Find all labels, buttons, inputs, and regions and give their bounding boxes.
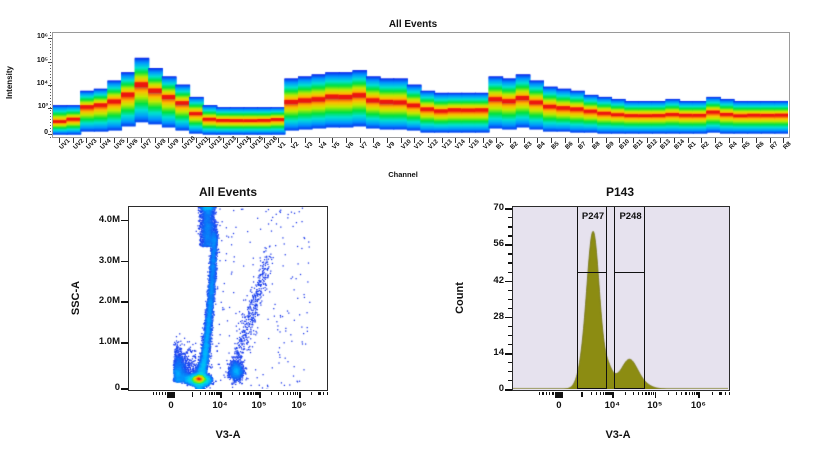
histogram-y-tick-label: 56 (476, 238, 504, 249)
histogram-x-tick-label: 0 (539, 400, 579, 411)
histogram-x-minor-tick (549, 392, 550, 395)
channel-tick-mark (715, 138, 716, 143)
scatter-x-minor-tick (293, 392, 294, 395)
channel-tick-mark (524, 138, 525, 143)
scatter-y-tick-mark (121, 342, 128, 344)
channel-tick-mark (483, 138, 484, 143)
scatter-x-minor-tick (162, 392, 163, 395)
channel-tick-mark (73, 138, 74, 143)
scatter-x-minor-tick (192, 392, 193, 397)
channel-tick-mark (469, 138, 470, 143)
histogram-x-minor-tick (681, 392, 682, 395)
channel-tick-mark (606, 138, 607, 143)
channel-tick-mark (633, 138, 634, 143)
scatter-x-minor-tick (211, 392, 212, 395)
scatter-x-minor-tick (323, 392, 324, 395)
scatter-x-minor-tick (159, 392, 160, 395)
histogram-x-minor-tick (542, 392, 543, 395)
scatter-x-major-tick (299, 392, 301, 398)
channel-tick-mark (278, 138, 279, 143)
scatter-x-minor-tick (232, 392, 233, 395)
scatter-x-minor-tick (278, 392, 279, 395)
scatter-x-tick-label: 10⁴ (200, 400, 240, 411)
histogram-x-minor-tick (539, 392, 540, 395)
scatter-plot-panel: All Events SSC-A 4.0M3.0M2.0M1.0M0 010⁴1… (60, 182, 380, 451)
scatter-x-minor-tick (319, 392, 320, 395)
scatter-x-minor-tick (209, 392, 210, 395)
histogram-x-minor-tick (692, 392, 693, 395)
histogram-plot-area: P247 P248 (512, 206, 730, 391)
scatter-x-minor-tick (283, 392, 284, 395)
scatter-y-tick-label: 4.0M (76, 214, 120, 225)
histogram-x-minor-tick (600, 392, 601, 395)
scatter-x-major-tick (259, 392, 261, 398)
spectral-y-tick-label: 10³ (30, 103, 48, 110)
scatter-x-major-tick (171, 392, 173, 398)
histogram-x-minor-tick (603, 392, 604, 395)
histogram-x-axis-label: V3-A (568, 429, 668, 441)
histogram-x-major-tick (612, 392, 614, 398)
histogram-x-minor-tick (633, 392, 634, 395)
spectral-y-tick-label: 0 (30, 129, 48, 136)
channel-tick-mark (647, 138, 648, 143)
histogram-x-minor-tick (720, 392, 721, 395)
channel-label: UV6 (126, 137, 139, 150)
channel-tick-mark (346, 138, 347, 143)
channel-tick-mark (141, 138, 142, 143)
spectral-x-axis-label: Channel (363, 170, 443, 179)
scatter-x-minor-tick (243, 392, 244, 395)
scatter-x-minor-tick (156, 392, 157, 395)
scatter-x-major-tick (220, 392, 222, 398)
channel-label: UV2 (72, 137, 85, 150)
histogram-x-minor-tick (712, 392, 713, 395)
gate-p248[interactable] (614, 207, 644, 389)
scatter-x-minor-tick (253, 392, 254, 395)
scatter-x-minor-tick (200, 392, 201, 395)
histogram-x-major-tick (698, 392, 700, 398)
channel-label: UV5 (113, 137, 126, 150)
scatter-y-tick-label: 3.0M (76, 255, 120, 266)
histogram-x-minor-tick (729, 392, 730, 395)
channel-tick-mark (592, 138, 593, 143)
channel-tick-mark (360, 138, 361, 143)
channel-tick-mark (729, 138, 730, 143)
histogram-y-tick-label: 0 (476, 383, 504, 394)
scatter-x-minor-tick (239, 392, 240, 395)
gate-divider-line (615, 272, 643, 274)
histogram-x-minor-tick (581, 392, 582, 397)
channel-tick-mark (401, 138, 402, 143)
histogram-x-tick-label: 10⁴ (592, 400, 632, 411)
histogram-x-minor-tick (645, 392, 646, 395)
spectral-signature-panel: All Events Intensity 10⁶10⁵10⁴10³0 UV1UV… (0, 0, 826, 182)
histogram-x-minor-tick (651, 392, 652, 395)
channel-tick-mark (114, 138, 115, 143)
scatter-y-tick-mark (121, 301, 128, 303)
channel-tick-mark (674, 138, 675, 143)
histogram-x-minor-tick (596, 392, 597, 395)
scatter-y-tick-label: 2.0M (76, 295, 120, 306)
scatter-y-tick-label: 0 (76, 382, 120, 393)
channel-label: UV8 (154, 137, 167, 150)
scatter-x-minor-tick (327, 392, 328, 395)
scatter-x-axis-label: V3-A (178, 429, 278, 441)
histogram-x-minor-tick (676, 392, 677, 395)
scatter-plot-title: All Events (168, 185, 288, 199)
channel-tick-mark (182, 138, 183, 143)
gate-divider-line (578, 272, 606, 274)
spectral-y-axis-label: Intensity (5, 66, 14, 99)
scatter-y-tick-mark (121, 220, 128, 222)
scatter-x-minor-tick (247, 392, 248, 395)
histogram-x-minor-tick (668, 392, 669, 395)
channel-tick-mark (770, 138, 771, 143)
channel-tick-mark (756, 138, 757, 143)
spectral-y-tick-label: 10⁴ (30, 80, 48, 87)
scatter-x-tick-label: 10⁵ (239, 400, 279, 411)
histogram-x-minor-tick (638, 392, 639, 395)
channel-label: UV1 (58, 137, 71, 150)
histogram-x-tick-label: 10⁶ (678, 400, 718, 411)
scatter-x-minor-tick (290, 392, 291, 395)
channel-tick-mark (428, 138, 429, 143)
channel-tick-mark (551, 138, 552, 143)
spectral-density-canvas (53, 33, 788, 136)
histogram-x-minor-tick (648, 392, 649, 395)
scatter-y-tick-label: 1.0M (76, 336, 120, 347)
histogram-x-minor-tick (694, 392, 695, 395)
channel-label: UV9 (167, 137, 180, 150)
channel-tick-mark (565, 138, 566, 143)
scatter-x-minor-tick (311, 392, 312, 395)
histogram-x-minor-tick (685, 392, 686, 395)
histogram-x-minor-tick (725, 392, 726, 395)
histogram-y-axis-label: Count (454, 282, 466, 314)
scatter-y-tick-mark (121, 261, 128, 263)
channel-tick-mark (237, 138, 238, 143)
channel-tick-mark (100, 138, 101, 143)
gate-p247-label[interactable]: P247 (581, 211, 605, 222)
scatter-x-minor-tick (205, 392, 206, 395)
scatter-x-minor-tick (153, 392, 154, 395)
channel-tick-mark (59, 138, 60, 143)
scatter-y-tick-mark (121, 388, 128, 390)
histogram-y-tick-label: 14 (476, 347, 504, 358)
histogram-panel: P143 Count 70564228140 P247 P248 010⁴10⁵… (440, 182, 770, 451)
scatter-plot-area (128, 206, 328, 391)
spectral-y-axis-line (50, 32, 51, 138)
channel-tick-mark (196, 138, 197, 143)
channel-tick-mark (155, 138, 156, 143)
histogram-y-tick-label: 70 (476, 202, 504, 213)
channel-tick-mark (305, 138, 306, 143)
channel-label: UV3 (85, 137, 98, 150)
channel-label: UV7 (140, 137, 153, 150)
spectral-plot-title: All Events (343, 19, 483, 30)
scatter-x-tick-label: 10⁶ (279, 400, 319, 411)
histogram-y-tick-label: 42 (476, 275, 504, 286)
channel-tick-mark (223, 138, 224, 143)
gate-p247[interactable] (577, 207, 607, 389)
histogram-x-minor-tick (625, 392, 626, 395)
histogram-x-minor-tick (546, 392, 547, 395)
channel-tick-mark (264, 138, 265, 143)
scatter-x-minor-tick (287, 392, 288, 395)
histogram-x-minor-tick (689, 392, 690, 395)
spectral-y-tick-label: 10⁵ (30, 57, 48, 64)
scatter-density-canvas (129, 207, 326, 389)
histogram-x-minor-tick (591, 392, 592, 395)
spectral-plot-area (52, 32, 790, 138)
channel-tick-mark (387, 138, 388, 143)
channel-tick-mark (319, 138, 320, 143)
histogram-x-minor-tick (642, 392, 643, 395)
channel-tick-mark (510, 138, 511, 143)
spectral-y-tick-label: 10⁶ (30, 33, 48, 40)
scatter-x-minor-tick (271, 392, 272, 395)
channel-tick-mark (688, 138, 689, 143)
histogram-x-major-tick (655, 392, 657, 398)
histogram-x-major-tick (559, 392, 561, 398)
scatter-x-tick-label: 0 (151, 400, 191, 411)
channel-label: UV4 (99, 137, 112, 150)
channel-tick-mark (442, 138, 443, 143)
gate-p248-label[interactable]: P248 (618, 211, 642, 222)
scatter-x-minor-tick (250, 392, 251, 395)
histogram-y-tick-label: 28 (476, 311, 504, 322)
histogram-title: P143 (560, 185, 680, 199)
histogram-x-tick-label: 10⁵ (635, 400, 675, 411)
histogram-x-minor-tick (552, 392, 553, 395)
